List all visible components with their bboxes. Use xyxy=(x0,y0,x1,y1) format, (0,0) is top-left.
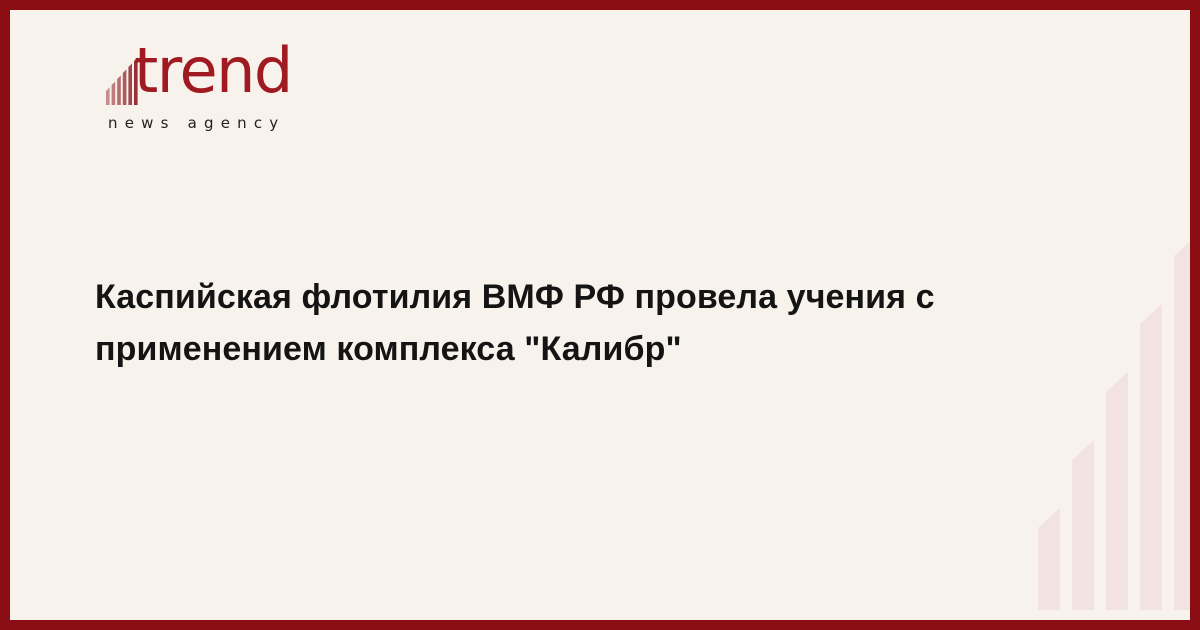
article-headline: Каспийская флотилия ВМФ РФ провела учени… xyxy=(95,272,1045,375)
logo-tagline: news agency xyxy=(108,114,285,132)
logo-wordmark: trend xyxy=(134,40,292,102)
news-share-card: trend news agency Каспийская флотилия ВМ… xyxy=(0,0,1200,630)
ascending-bars-watermark-icon xyxy=(1028,170,1200,610)
trend-logo[interactable]: trend news agency xyxy=(105,52,365,144)
